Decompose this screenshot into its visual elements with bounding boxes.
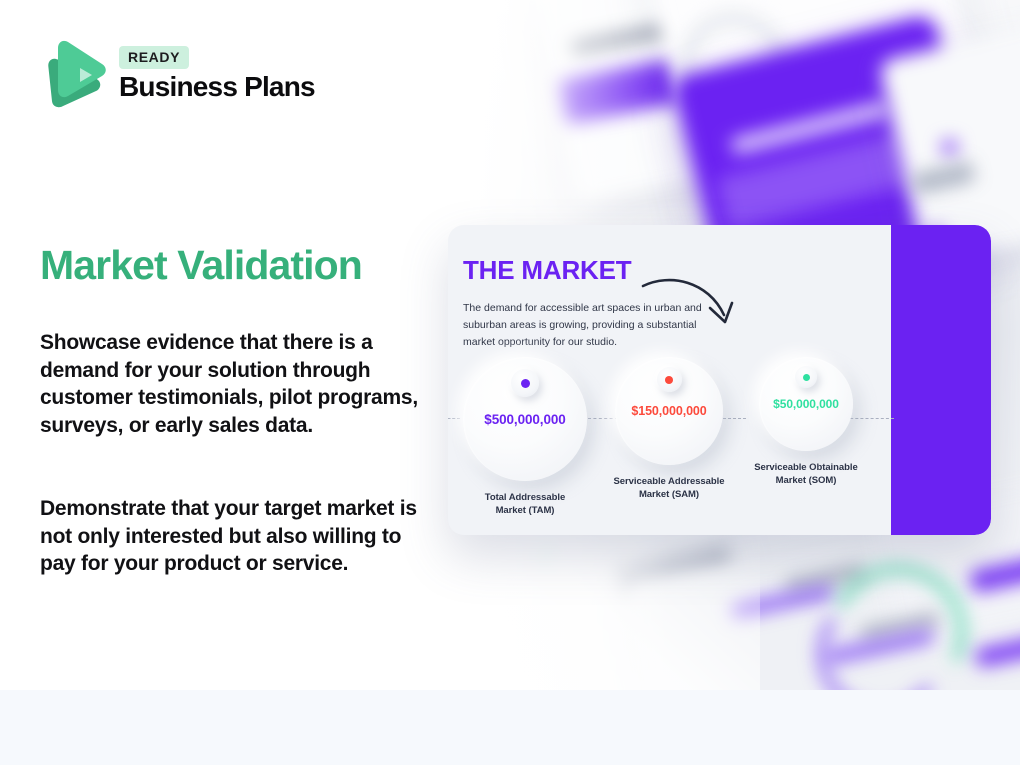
ready-badge: READY [119,46,189,69]
metric-value-som: $50,000,000 [773,397,839,411]
left-content-pane: READY Business Plans Market Validation S… [0,0,440,690]
marker-dot-icon [795,366,817,388]
metric-label-som: Serviceable Obtainable Market (SOM) [733,461,879,488]
marker-dot-fill [803,374,810,381]
metric-label-som-line1: Serviceable Obtainable [754,462,857,473]
brand-name: Business Plans [119,73,315,101]
brand-lockup: READY Business Plans [40,38,315,108]
marker-dot-fill [665,376,673,384]
curved-arrow-down-right-icon [640,275,750,335]
market-slide-card: THE MARKET The demand for accessible art… [448,225,991,535]
marker-dot-icon [657,367,682,392]
metric-label-sam-line1: Serviceable Addressable [614,476,725,487]
card-accent-block [891,225,991,535]
dial-sam: $150,000,000 [615,357,723,465]
body-paragraph-1: Showcase evidence that there is a demand… [40,329,420,440]
bottom-bar [0,690,1020,765]
metric-sam: $150,000,000 Serviceable Addressable Mar… [596,357,742,502]
metric-label-sam: Serviceable Addressable Market (SAM) [596,475,742,502]
body-paragraph-2: Demonstrate that your target market is n… [40,495,420,578]
play-logo-icon [40,38,106,108]
marker-dot-icon [511,369,539,397]
market-metrics-row: $500,000,000 Total Addressable Market (T… [448,357,891,517]
bg-slide-d-dot-icon [942,140,957,155]
page-title: Market Validation [40,243,362,288]
slide-canvas: READY Business Plans Market Validation S… [0,0,1020,765]
dial-som: $50,000,000 [759,357,853,451]
marker-dot-fill [521,379,530,388]
metric-value-tam: $500,000,000 [484,412,565,427]
metric-label-tam-line1: Total Addressable [485,492,565,503]
metric-label-som-line2: Market (SOM) [776,475,837,486]
card-title: THE MARKET [463,255,631,286]
brand-text-block: READY Business Plans [119,46,315,101]
metric-label-tam-line2: Market (TAM) [496,505,555,516]
metric-som: $50,000,000 Serviceable Obtainable Marke… [733,357,879,488]
metric-value-sam: $150,000,000 [631,404,706,418]
metric-label-tam: Total Addressable Market (TAM) [452,491,598,518]
metric-label-sam-line2: Market (SAM) [639,489,699,500]
dial-tam: $500,000,000 [463,357,587,481]
metric-tam: $500,000,000 Total Addressable Market (T… [452,357,598,518]
